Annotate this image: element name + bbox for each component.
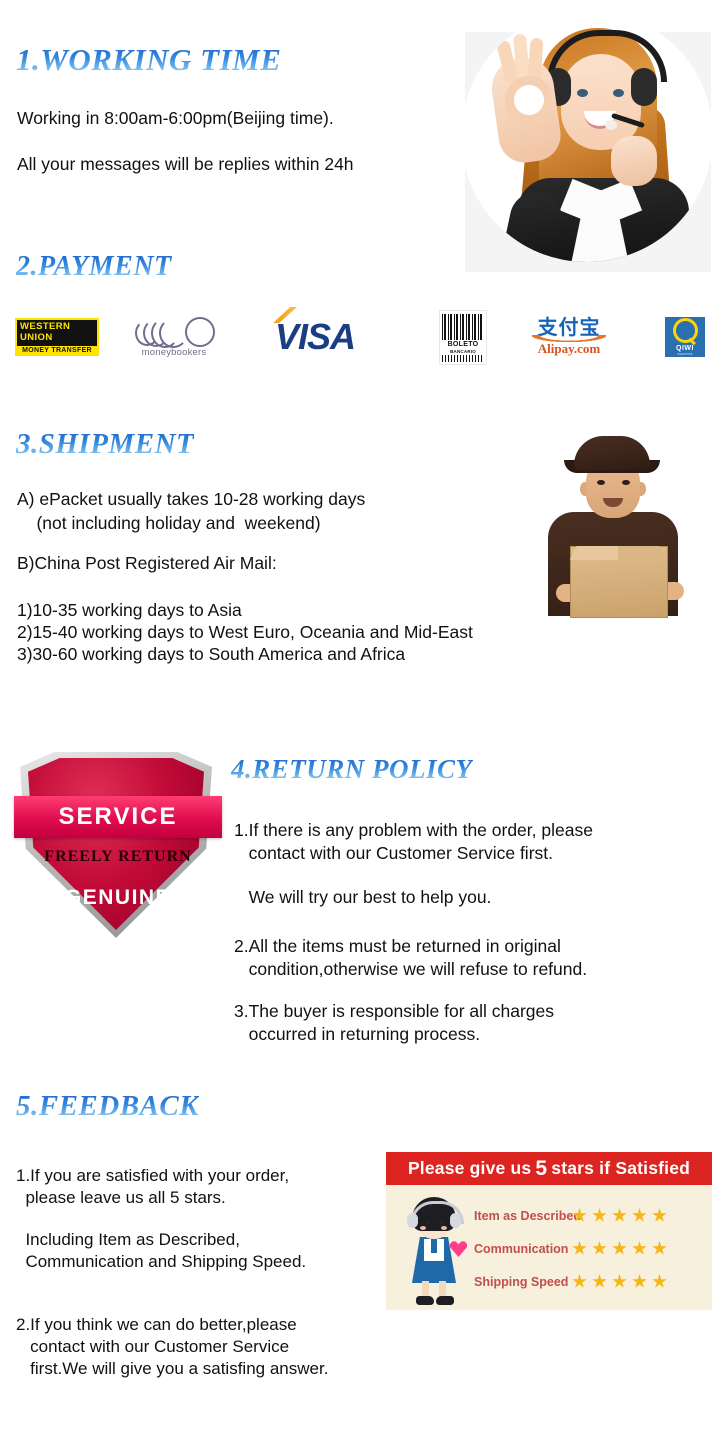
star-icon [612, 1241, 627, 1256]
courier-photo [512, 424, 712, 624]
payment-logo-moneybookers: moneybookers [124, 306, 224, 368]
return-item-3-line-2: occurred in returning process. [234, 1022, 480, 1047]
courier-eye-left [597, 480, 605, 485]
star-icon [652, 1274, 667, 1289]
section-heading-payment: 2.PAYMENT [16, 251, 172, 283]
visa-wordmark: VISA [275, 316, 355, 358]
courier-cap [574, 436, 650, 470]
badge-bottom-text: GENUINE [14, 886, 222, 910]
badge-ribbon-text: SERVICE [14, 798, 222, 836]
feedback-row: Item as Described [474, 1199, 706, 1232]
return-item-2-line-2: condition,otherwise we will refuse to re… [234, 957, 587, 982]
star-icon [632, 1241, 647, 1256]
payment-logo-western-union: WESTERN UNION MONEY TRANSFER [14, 306, 100, 368]
star-icon [652, 1208, 667, 1223]
return-item-2-line-1: 2.All the items must be returned in orig… [234, 934, 561, 959]
moneybookers-mark-icon [133, 317, 215, 345]
section-heading-return-policy: 4.RETURN POLICY [231, 754, 473, 785]
headset-mic-tip-icon [605, 120, 617, 130]
qiwi-wordmark: QIWI [676, 345, 694, 352]
support-girl-mascot [398, 1195, 472, 1307]
qiwi-subtext: кошелек [677, 352, 692, 356]
star-icon [592, 1208, 607, 1223]
boleto-wordmark: BOLETO [442, 341, 484, 349]
service-guarantee-badge: FREELY RETURN GENUINE SERVICE [14, 748, 222, 944]
star-icon [652, 1241, 667, 1256]
shipment-airmail-heading: B)China Post Registered Air Mail: [17, 551, 277, 576]
section-heading-working-time: 1.WORKING TIME [16, 42, 281, 78]
operator-photo [443, 4, 711, 272]
feedback-item-2-line-3: first.We will give you a satisfing answe… [16, 1357, 328, 1381]
product-description-page: 1.WORKING TIME Working in 8:00am-6:00pm(… [0, 0, 720, 1440]
feedback-banner-number: 5 [531, 1157, 551, 1181]
operator-resting-hand [611, 136, 657, 186]
mascot-headset-earcup-right-icon [450, 1213, 461, 1228]
return-item-1-line-1: 1.If there is any problem with the order… [234, 818, 593, 843]
feedback-banner-pre: Please give us [408, 1158, 531, 1179]
mascot-shoe-left [416, 1296, 434, 1305]
boleto-logo-icon: BOLETO BANCARIO [439, 310, 487, 365]
star-icon [572, 1241, 587, 1256]
package-flap-left [570, 546, 618, 560]
feedback-banner-post: stars if Satisfied [551, 1158, 690, 1179]
feedback-item-1-line-4: Communication and Shipping Speed. [16, 1250, 306, 1274]
feedback-rating-rows: Item as Described Communication [474, 1199, 706, 1298]
feedback-item-2-line-1: 2.If you think we can do better,please [16, 1313, 297, 1337]
feedback-rating-card: Please give us 5 stars if Satisfied [386, 1152, 712, 1310]
feedback-row: Shipping Speed [474, 1265, 706, 1298]
payment-logo-visa: VISA [255, 306, 375, 368]
payment-logo-boleto: BOLETO BANCARIO [437, 306, 489, 368]
mascot-shoe-right [436, 1296, 454, 1305]
feedback-item-1-line-3: Including Item as Described, [16, 1228, 240, 1252]
visa-text: VISA [275, 316, 355, 357]
feedback-row-label: Shipping Speed [474, 1275, 566, 1289]
working-time-line-2: All your messages will be replies within… [17, 152, 354, 177]
moneybookers-ring [185, 317, 215, 347]
star-icon [632, 1274, 647, 1289]
alipay-wordmark: Alipay.com [538, 342, 600, 356]
mascot-headset-earcup-left-icon [407, 1213, 418, 1228]
western-union-logo-icon: WESTERN UNION MONEY TRANSFER [15, 318, 99, 356]
feedback-row-stars [572, 1274, 667, 1289]
star-icon [572, 1208, 587, 1223]
heart-icon [450, 1241, 467, 1257]
return-item-3-line-1: 3.The buyer is responsible for all charg… [234, 999, 554, 1024]
return-item-1-line-3: We will try our best to help you. [234, 885, 491, 910]
moneybookers-wordmark: moneybookers [142, 347, 207, 358]
payment-logo-alipay: 支付宝 Alipay.com [523, 306, 615, 368]
feedback-item-1-line-2: please leave us all 5 stars. [16, 1186, 226, 1210]
boleto-barcode-bottom-icon [442, 355, 484, 362]
mascot-cheek-right [441, 1226, 447, 1230]
package-flap-right [618, 546, 666, 560]
return-item-1-line-2: contact with our Customer Service first. [234, 841, 553, 866]
shipment-epacket-line-1: A) ePacket usually takes 10-28 working d… [17, 487, 365, 512]
working-time-line-1: Working in 8:00am-6:00pm(Beijing time). [17, 106, 334, 131]
payment-logo-qiwi: QIWI кошелек [663, 306, 707, 368]
courier-eye-right [622, 480, 630, 485]
feedback-row-label: Item as Described [474, 1209, 566, 1223]
feedback-row-stars [572, 1241, 667, 1256]
badge-middle-text: FREELY RETURN [14, 848, 222, 866]
operator-eye-right [613, 89, 624, 97]
feedback-item-2-line-2: contact with our Customer Service [16, 1335, 289, 1359]
star-icon [592, 1241, 607, 1256]
section-heading-feedback: 5.FEEDBACK [16, 1090, 199, 1123]
feedback-card-body: Item as Described Communication [386, 1185, 712, 1310]
qiwi-q-icon [673, 318, 698, 343]
star-icon [612, 1274, 627, 1289]
star-icon [632, 1208, 647, 1223]
ok-gesture-icon [505, 76, 553, 124]
feedback-row-stars [572, 1208, 667, 1223]
moneybookers-arc-4 [159, 318, 188, 348]
payment-methods-row: WESTERN UNION MONEY TRANSFER moneybooker… [0, 306, 720, 370]
western-union-wordmark: WESTERN UNION [17, 320, 97, 346]
operator-photo-circle [461, 10, 713, 262]
section-heading-shipment: 3.SHIPMENT [16, 428, 194, 461]
feedback-row: Communication [474, 1232, 706, 1265]
boleto-barcode-icon [442, 314, 484, 340]
western-union-tagline: MONEY TRANSFER [17, 346, 97, 355]
mascot-tie [431, 1239, 437, 1253]
feedback-card-banner: Please give us 5 stars if Satisfied [386, 1152, 712, 1185]
feedback-item-1-line-1: 1.If you are satisfied with your order, [16, 1164, 289, 1188]
star-icon [612, 1208, 627, 1223]
shipment-route-americas: 3)30-60 working days to South America an… [17, 642, 405, 667]
mascot-cheek-left [420, 1226, 426, 1230]
star-icon [572, 1274, 587, 1289]
operator-eye-left [577, 89, 588, 97]
shipment-epacket-line-2: (not including holiday and weekend) [17, 511, 321, 536]
headset-earcup-right-icon [631, 68, 657, 106]
feedback-row-label: Communication [474, 1242, 566, 1256]
qiwi-logo-icon: QIWI кошелек [665, 317, 705, 357]
star-icon [592, 1274, 607, 1289]
